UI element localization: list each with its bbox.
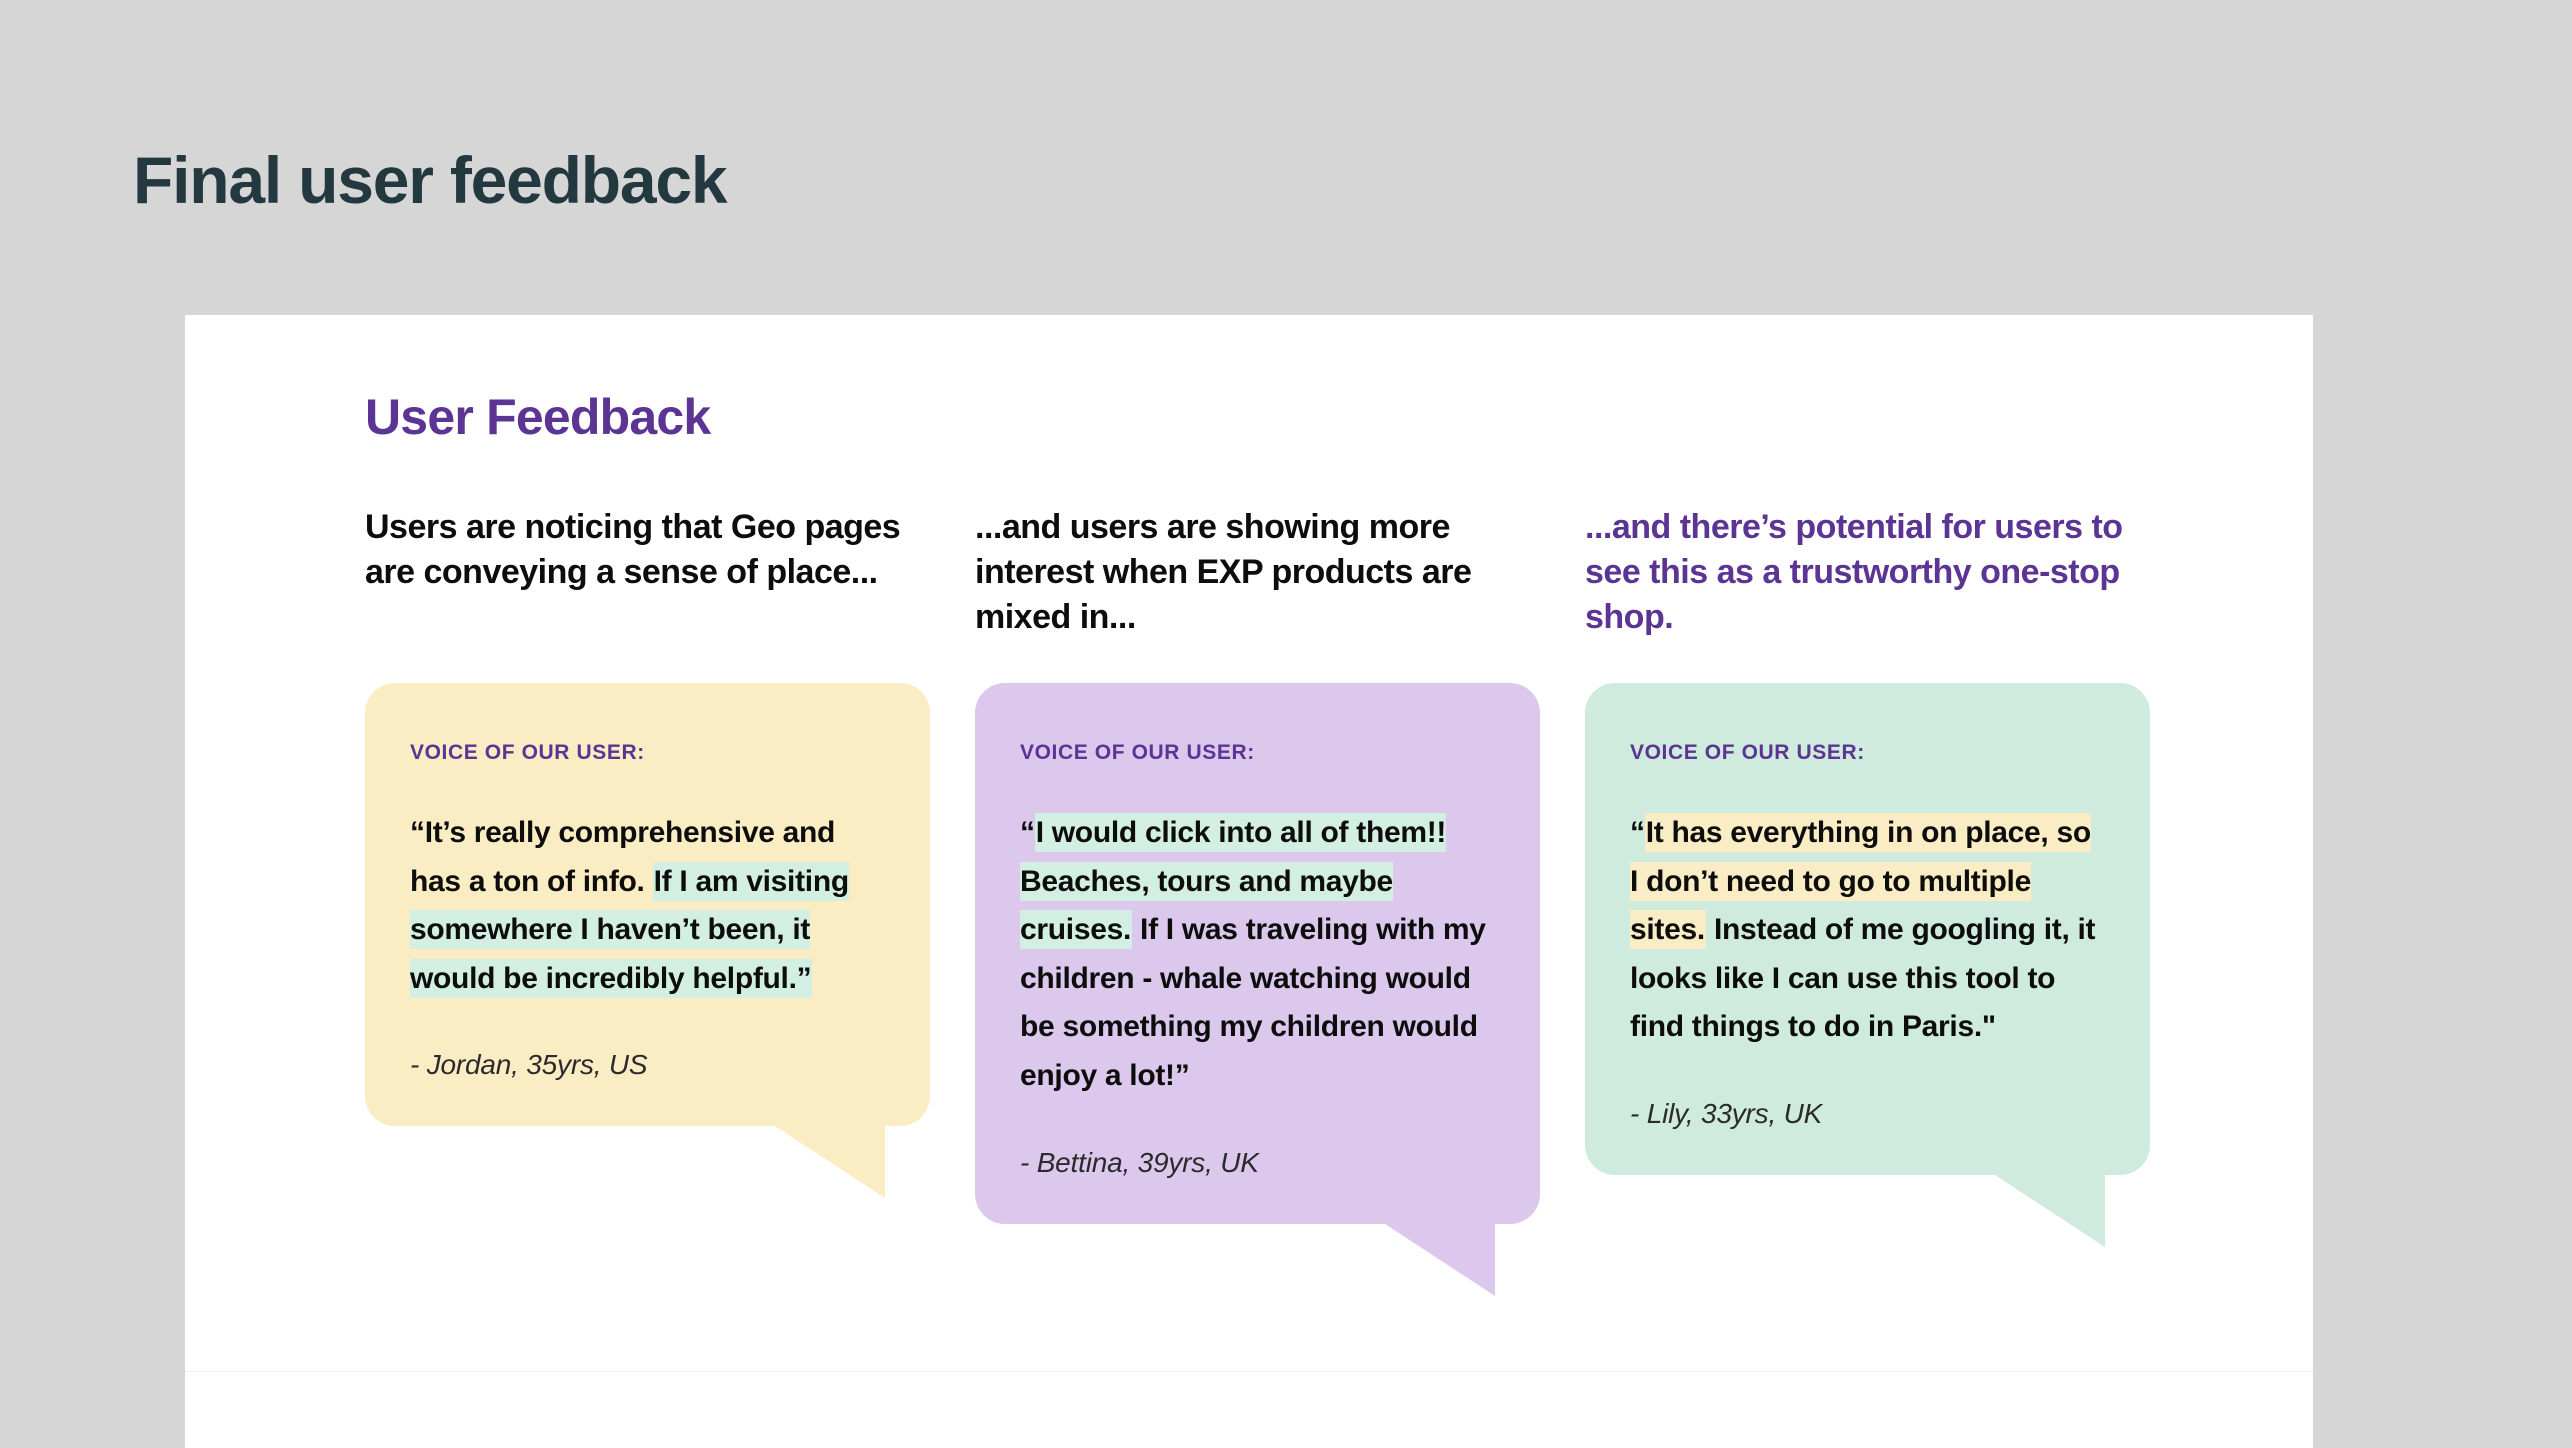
section-heading: User Feedback <box>365 388 710 446</box>
attribution-1: - Jordan, 35yrs, US <box>410 1049 885 1081</box>
column-title-2: ...and users are showing more interest w… <box>975 505 1540 641</box>
speech-bubble-body-2: VOICE OF OUR USER: “I would click into a… <box>975 683 1540 1224</box>
speech-bubble-tail-3 <box>1995 1175 2105 1247</box>
quote-text-1: “It’s really comprehensive and has a ton… <box>410 809 885 1003</box>
quote-text-2: “I would click into all of them!! Beache… <box>1020 809 1495 1101</box>
content-panel: User Feedback Users are noticing that Ge… <box>185 315 2313 1448</box>
quote-segment: “ <box>1630 816 1645 849</box>
voice-label-3: VOICE OF OUR USER: <box>1630 741 2105 765</box>
speech-bubble-3: VOICE OF OUR USER: “It has everything in… <box>1585 683 2150 1175</box>
panel-divider <box>185 1371 2313 1372</box>
speech-bubble-tail-1 <box>775 1126 885 1198</box>
column-title-3: ...and there’s potential for users to se… <box>1585 505 2150 641</box>
voice-label-1: VOICE OF OUR USER: <box>410 741 885 765</box>
feedback-columns: Users are noticing that Geo pages are co… <box>365 505 2225 1224</box>
quote-text-3: “It has everything in on place, so I don… <box>1630 809 2105 1052</box>
speech-bubble-tail-2 <box>1385 1224 1495 1296</box>
speech-bubble-2: VOICE OF OUR USER: “I would click into a… <box>975 683 1540 1224</box>
voice-label-2: VOICE OF OUR USER: <box>1020 741 1495 765</box>
attribution-2: - Bettina, 39yrs, UK <box>1020 1147 1495 1179</box>
page-title: Final user feedback <box>133 142 726 218</box>
speech-bubble-body-1: VOICE OF OUR USER: “It’s really comprehe… <box>365 683 930 1126</box>
speech-bubble-1: VOICE OF OUR USER: “It’s really comprehe… <box>365 683 930 1126</box>
feedback-column-3: ...and there’s potential for users to se… <box>1585 505 2150 1224</box>
column-title-1: Users are noticing that Geo pages are co… <box>365 505 930 641</box>
attribution-3: - Lily, 33yrs, UK <box>1630 1098 2105 1130</box>
feedback-column-1: Users are noticing that Geo pages are co… <box>365 505 930 1224</box>
speech-bubble-body-3: VOICE OF OUR USER: “It has everything in… <box>1585 683 2150 1175</box>
feedback-column-2: ...and users are showing more interest w… <box>975 505 1540 1224</box>
quote-segment: “ <box>1020 816 1035 849</box>
